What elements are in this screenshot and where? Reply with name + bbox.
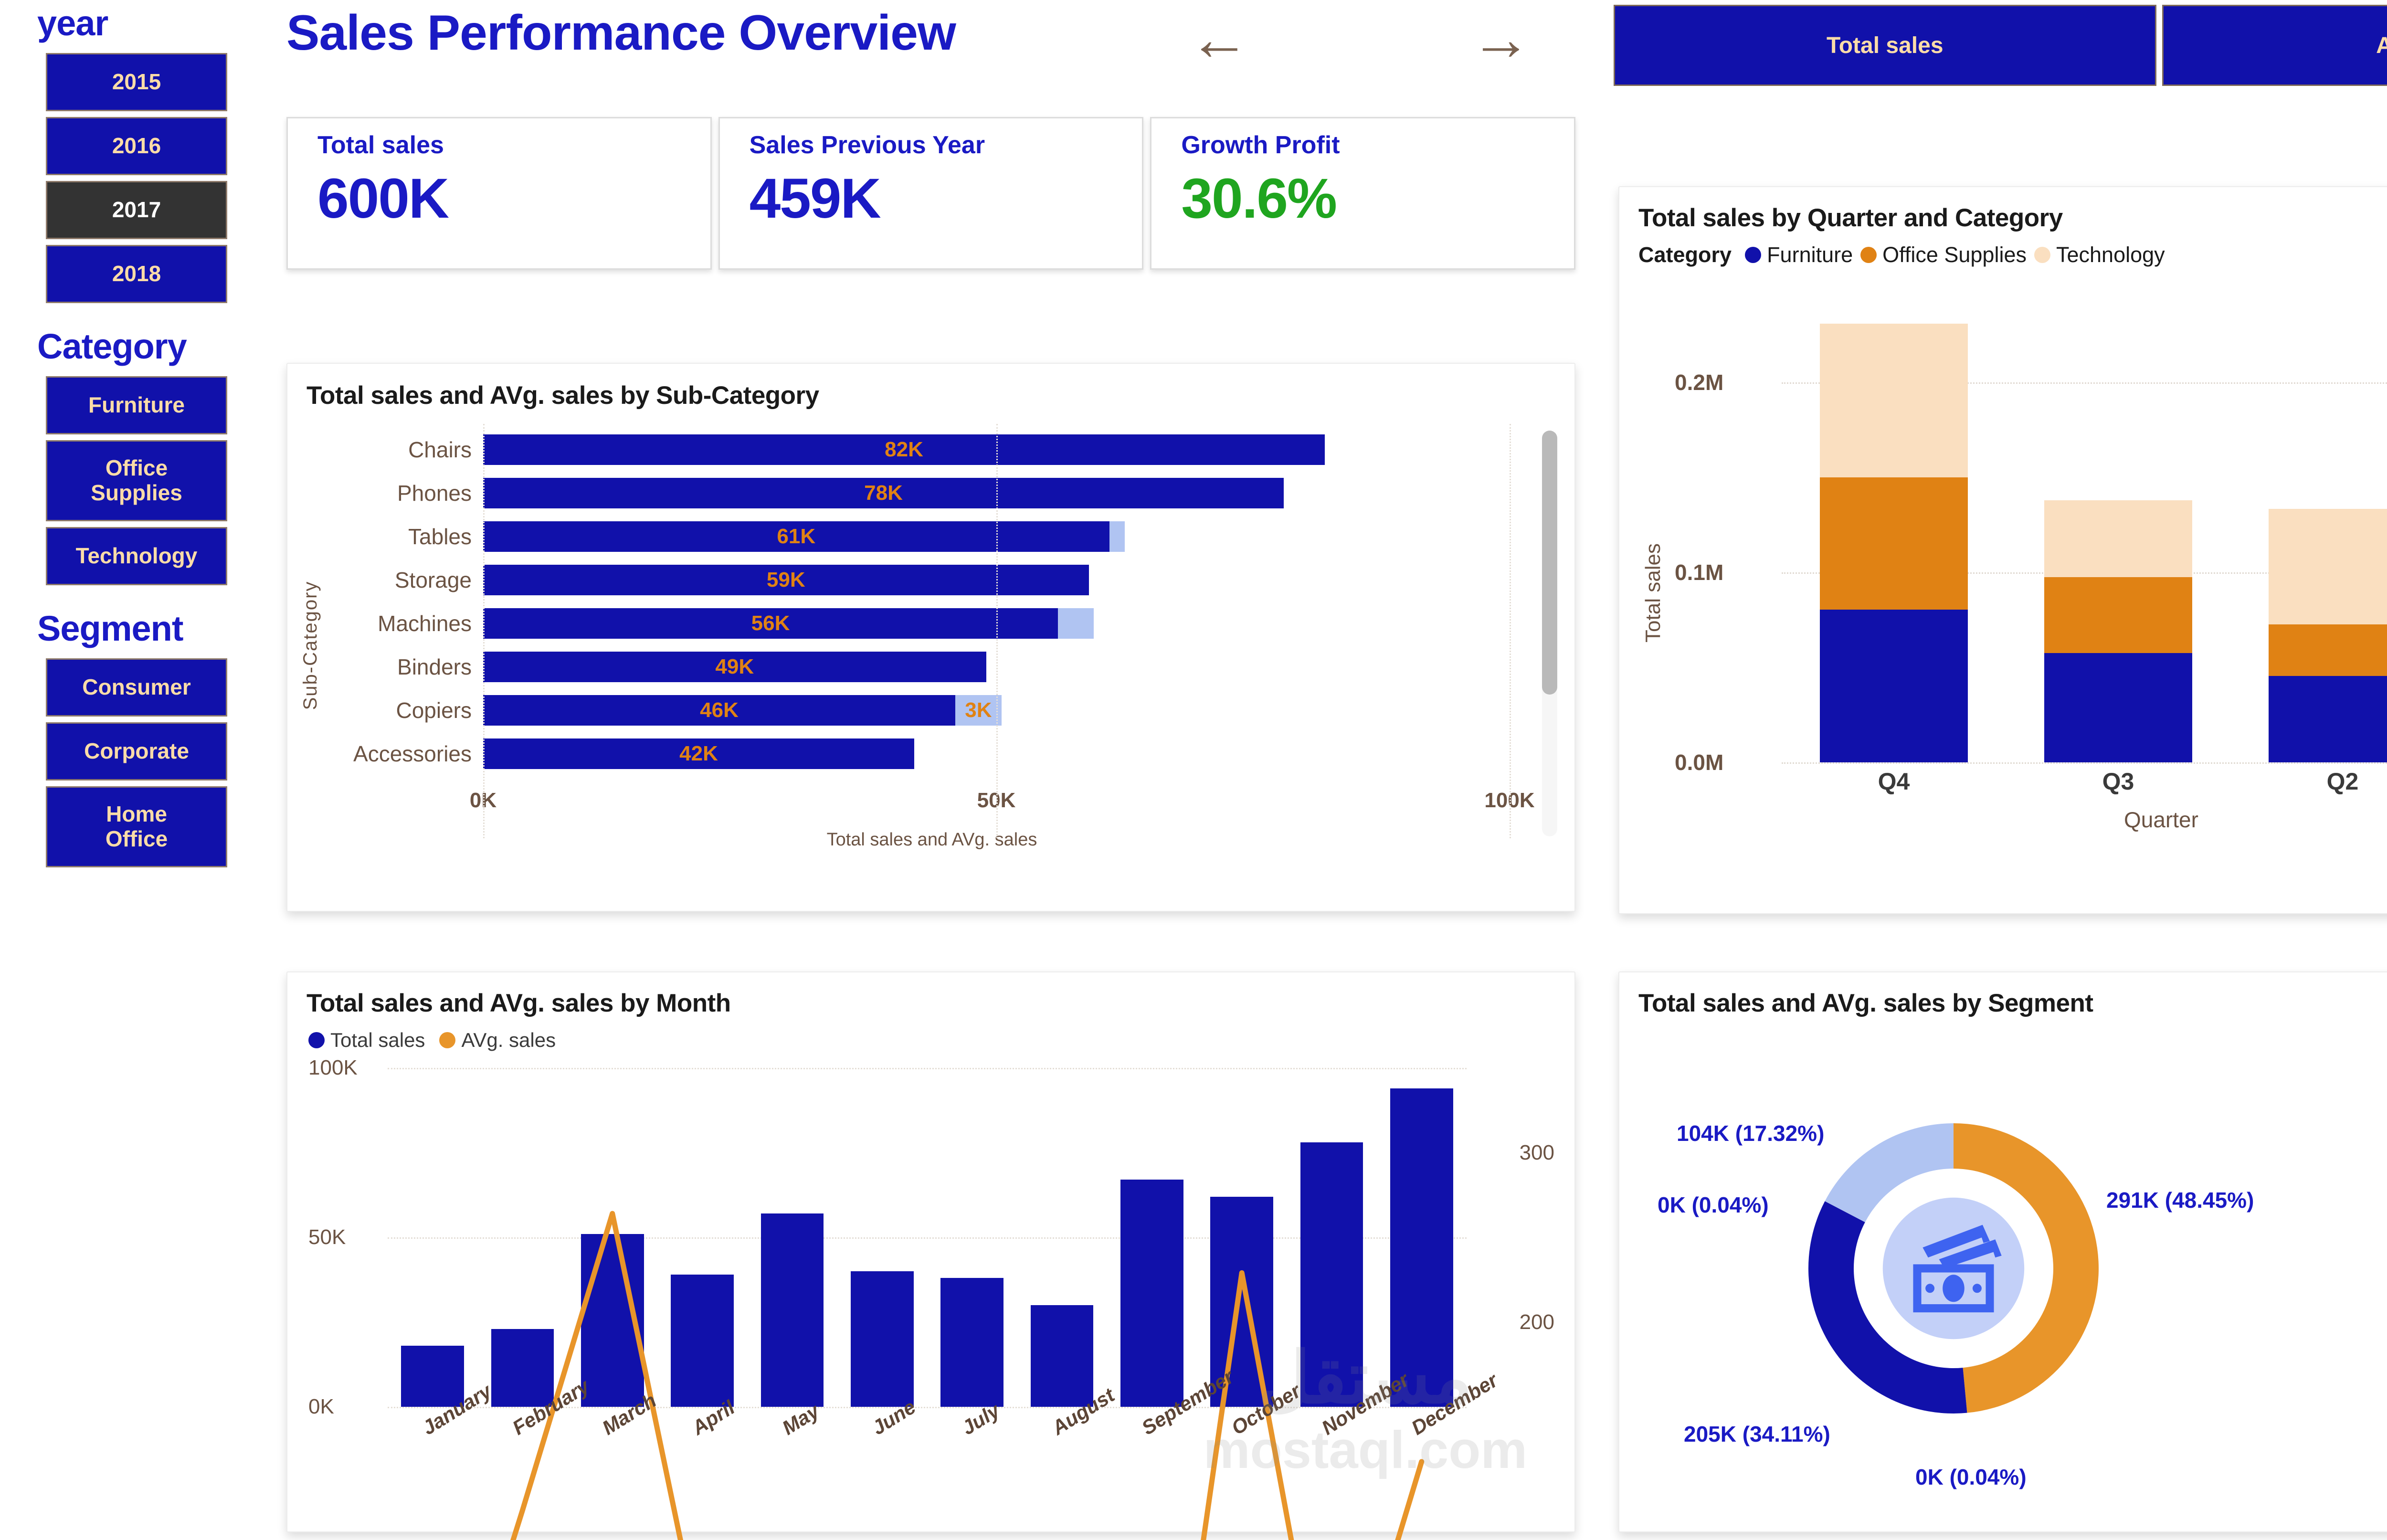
tab-total-sales[interactable]: Total sales: [1614, 5, 2156, 86]
month-legend-item-avg-sales[interactable]: AVg. sales: [439, 1029, 556, 1052]
subcategory-label: Storage: [345, 567, 483, 593]
category-slicer-group: FurnitureOfficeSuppliesTechnology: [0, 376, 277, 585]
subcategory-label: Chairs: [345, 437, 483, 463]
quarter-segment-furniture: [2044, 653, 2192, 762]
measure-tab-group: Total salesAVg. sales: [1614, 5, 2387, 86]
slicer-option-office-supplies[interactable]: OfficeSupplies: [46, 440, 227, 521]
quarter-chart-title: Total sales by Quarter and Category: [1638, 203, 2387, 232]
donut-label-zero-0: 0K (0.04%): [1658, 1192, 1769, 1218]
subcategory-bar-row[interactable]: Copiers46K3K: [345, 688, 1524, 732]
kpi-card-row: Total sales600KSales Previous Year459KGr…: [286, 117, 1575, 270]
kpi-value: 459K: [750, 166, 1142, 231]
subcategory-bar-track: 78K: [483, 478, 1524, 508]
subcategory-plot-area: Sub-Category Chairs82KPhones78KTables61K…: [287, 421, 1576, 851]
legend-dot-icon: [2034, 247, 2050, 263]
bar-value-label: 56K: [751, 612, 790, 635]
month-plot-area: JanuaryFebruaryMarchAprilMayJuneJulyAugu…: [287, 1068, 1576, 1521]
filters-sidebar: year 2015201620172018 Category Furniture…: [0, 0, 277, 1540]
quarter-stack: [2044, 500, 2192, 762]
month-y2-tick: 200: [1520, 1310, 1554, 1334]
legend-label: Office Supplies: [1882, 243, 2027, 267]
legend-dot-icon: [1860, 247, 1877, 263]
legend-item-technology[interactable]: Technology: [2034, 243, 2165, 267]
legend-dot-icon: [1745, 247, 1761, 263]
segment-donut-chart: 291K (48.45%)104K (17.32%)205K (34.11%)0…: [1772, 1044, 2135, 1498]
subcategory-bar-row[interactable]: Binders49K: [345, 645, 1524, 688]
quarter-x-tick: Q3: [2102, 768, 2134, 795]
subcategory-label: Machines: [345, 611, 483, 636]
quarter-column[interactable]: [1782, 287, 2006, 762]
donut-label-home-office: 104K (17.32%): [1677, 1120, 1824, 1146]
slicer-option-corporate[interactable]: Corporate: [46, 722, 227, 781]
subcategory-bar-track: 42K: [483, 738, 1524, 769]
kpi-value: 600K: [317, 166, 710, 231]
subcategory-bar-track: 59K: [483, 565, 1524, 595]
quarter-column[interactable]: [2230, 287, 2387, 762]
kpi-card-sales-previous-year: Sales Previous Year459K: [718, 117, 1144, 270]
month-y-tick: 50K: [308, 1225, 346, 1249]
legend-item-furniture[interactable]: Furniture: [1745, 243, 1853, 267]
donut-label-consumer: 291K (48.45%): [2106, 1187, 2254, 1213]
subcategory-gridline: [483, 424, 485, 838]
subcategory-bar-row[interactable]: Tables61K: [345, 515, 1524, 558]
quarter-y-axis-title: Total sales: [1641, 543, 1665, 643]
subcategory-bar-track: 49K: [483, 652, 1524, 682]
subcategory-bar-row[interactable]: Accessories42K: [345, 732, 1524, 775]
quarter-segment-technology: [2269, 509, 2387, 625]
subcategory-scrollbar-thumb[interactable]: [1542, 431, 1557, 695]
kpi-value: 30.6%: [1181, 166, 1574, 231]
segment-slicer-heading: Segment: [0, 608, 277, 649]
slicer-option-consumer[interactable]: Consumer: [46, 658, 227, 717]
slicer-option-technology[interactable]: Technology: [46, 527, 227, 585]
category-slicer-heading: Category: [0, 326, 277, 367]
quarter-segment-technology: [1820, 324, 1968, 477]
quarter-stack: [1820, 324, 1968, 762]
segment-chart-title: Total sales and AVg. sales by Segment: [1638, 989, 2387, 1018]
category-legend-items: FurnitureOffice SuppliesTechnology: [1745, 243, 2173, 267]
month-avg-sales-line: [388, 1068, 1467, 1540]
arrow-left-icon[interactable]: ←: [1189, 9, 1250, 70]
slicer-option-2016[interactable]: 2016: [46, 117, 227, 175]
month-legend-item-total-sales[interactable]: Total sales: [308, 1029, 425, 1052]
subcategory-bar-track: 46K3K: [483, 695, 1524, 726]
subcategory-chart-title: Total sales and AVg. sales by Sub-Catego…: [306, 381, 1555, 410]
subcategory-label: Accessories: [345, 741, 483, 767]
quarter-y-tick: 0.2M: [1675, 369, 1723, 395]
quarter-segment-office-supplies: [2044, 577, 2192, 653]
quarter-x-tick: Q2: [2327, 768, 2359, 795]
subcategory-scrollbar[interactable]: [1542, 431, 1557, 836]
quarter-bar-columns: [1782, 287, 2387, 762]
quarter-y-tick: 0.0M: [1675, 749, 1723, 775]
tab-avg-sales[interactable]: AVg. sales: [2162, 5, 2387, 86]
subcategory-bar-row[interactable]: Machines56K: [345, 601, 1524, 645]
quarter-segment-office-supplies: [1820, 477, 1968, 610]
bar-value-label: 42K: [679, 742, 718, 766]
subcategory-bar-chart-card: Total sales and AVg. sales by Sub-Catego…: [286, 363, 1575, 912]
kpi-card-growth-profit: Growth Profit30.6%: [1150, 117, 1575, 270]
quarter-plot-area: Total sales Q4Q3Q2Q1 Quarter 0.0M0.1M0.2…: [1638, 287, 2387, 841]
subcategory-bar-rows: Chairs82KPhones78KTables61KStorage59KMac…: [345, 428, 1524, 775]
quarter-stack: [2269, 509, 2387, 762]
subcategory-bar-row[interactable]: Chairs82K: [345, 428, 1524, 471]
quarter-gridline: [1782, 762, 2387, 764]
avg-bar-value-label: 3K: [965, 698, 992, 722]
subcategory-y-axis-title: Sub-Category: [300, 581, 321, 710]
arrow-right-icon[interactable]: →: [1470, 9, 1531, 70]
legend-label: AVg. sales: [461, 1029, 556, 1052]
slicer-option-2017[interactable]: 2017: [46, 181, 227, 239]
quarter-y-tick: 0.1M: [1675, 559, 1723, 585]
bar-value-label: 82K: [885, 438, 923, 462]
quarter-x-axis-title: Quarter: [1638, 807, 2387, 833]
bar-value-label: 78K: [864, 481, 903, 505]
month-combo-chart-card: Total sales and AVg. sales by Month Tota…: [286, 971, 1575, 1532]
category-legend: Category FurnitureOffice SuppliesTechnol…: [1638, 243, 2173, 267]
quarter-segment-furniture: [1820, 610, 1968, 762]
legend-dot-icon: [308, 1032, 325, 1048]
bar-value-label: 46K: [700, 698, 739, 722]
month-legend: Total salesAVg. sales: [308, 1029, 556, 1052]
donut-label-zero-1: 0K (0.04%): [1915, 1464, 2027, 1490]
segment-slicer-group: ConsumerCorporateHomeOffice: [0, 658, 277, 867]
subcategory-x-axis-ticks: 0K50K100K: [345, 789, 1524, 817]
kpi-label: Growth Profit: [1181, 131, 1574, 159]
year-slicer-group: 2015201620172018: [0, 53, 277, 303]
subcategory-label: Tables: [345, 524, 483, 549]
quarter-stacked-bar-card: Total sales by Quarter and Category YQMD…: [1618, 186, 2387, 914]
subcategory-bar-row[interactable]: Storage59K: [345, 558, 1524, 601]
segment-donut-card: Total sales and AVg. sales by Segment 29…: [1618, 971, 2387, 1532]
subcategory-bar-row[interactable]: Phones78K: [345, 471, 1524, 515]
subcategory-gridline: [996, 424, 998, 838]
bar-value-label: 59K: [767, 568, 805, 592]
bar-value-label: 49K: [715, 655, 754, 679]
donut-label-corporate: 205K (34.11%): [1684, 1421, 1830, 1447]
quarter-segment-technology: [2044, 500, 2192, 577]
slicer-option-2015[interactable]: 2015: [46, 53, 227, 111]
kpi-label: Total sales: [317, 131, 710, 159]
subcategory-gridline: [1510, 424, 1511, 838]
month-chart-title: Total sales and AVg. sales by Month: [306, 989, 1555, 1018]
donut-svg: [1772, 1087, 2135, 1450]
legend-dot-icon: [439, 1032, 455, 1048]
year-slicer-heading: year: [0, 3, 277, 43]
slicer-option-home-office[interactable]: HomeOffice: [46, 786, 227, 867]
quarter-segment-office-supplies: [2269, 624, 2387, 675]
subcategory-bar-track: 82K: [483, 434, 1524, 465]
page-header: Sales Performance Overview ← →: [286, 5, 1575, 95]
subcategory-bar-track: 56K: [483, 608, 1524, 639]
bar-value-label: 61K: [777, 525, 815, 548]
subcategory-bar-track: 61K: [483, 521, 1524, 552]
month-y-tick: 0K: [308, 1395, 334, 1419]
legend-label: Total sales: [330, 1029, 425, 1052]
kpi-card-total-sales: Total sales600K: [286, 117, 712, 270]
subcategory-label: Copiers: [345, 697, 483, 723]
subcategory-label: Binders: [345, 654, 483, 680]
subcategory-label: Phones: [345, 480, 483, 506]
legend-label: Furniture: [1767, 243, 1853, 267]
legend-label: Technology: [2056, 243, 2165, 267]
month-y2-tick: 300: [1520, 1141, 1554, 1165]
quarter-x-tick: Q4: [1878, 768, 1910, 795]
kpi-label: Sales Previous Year: [750, 131, 1142, 159]
subcategory-x-axis-title: Total sales and AVg. sales: [287, 830, 1576, 850]
category-legend-title: Category: [1638, 243, 1732, 267]
slicer-option-furniture[interactable]: Furniture: [46, 376, 227, 434]
legend-item-office-supplies[interactable]: Office Supplies: [1860, 243, 2027, 267]
slicer-option-2018[interactable]: 2018: [46, 245, 227, 303]
page-title: Sales Performance Overview: [286, 5, 1575, 62]
quarter-segment-furniture: [2269, 676, 2387, 762]
month-y-tick: 100K: [308, 1056, 358, 1080]
quarter-column[interactable]: [2006, 287, 2230, 762]
